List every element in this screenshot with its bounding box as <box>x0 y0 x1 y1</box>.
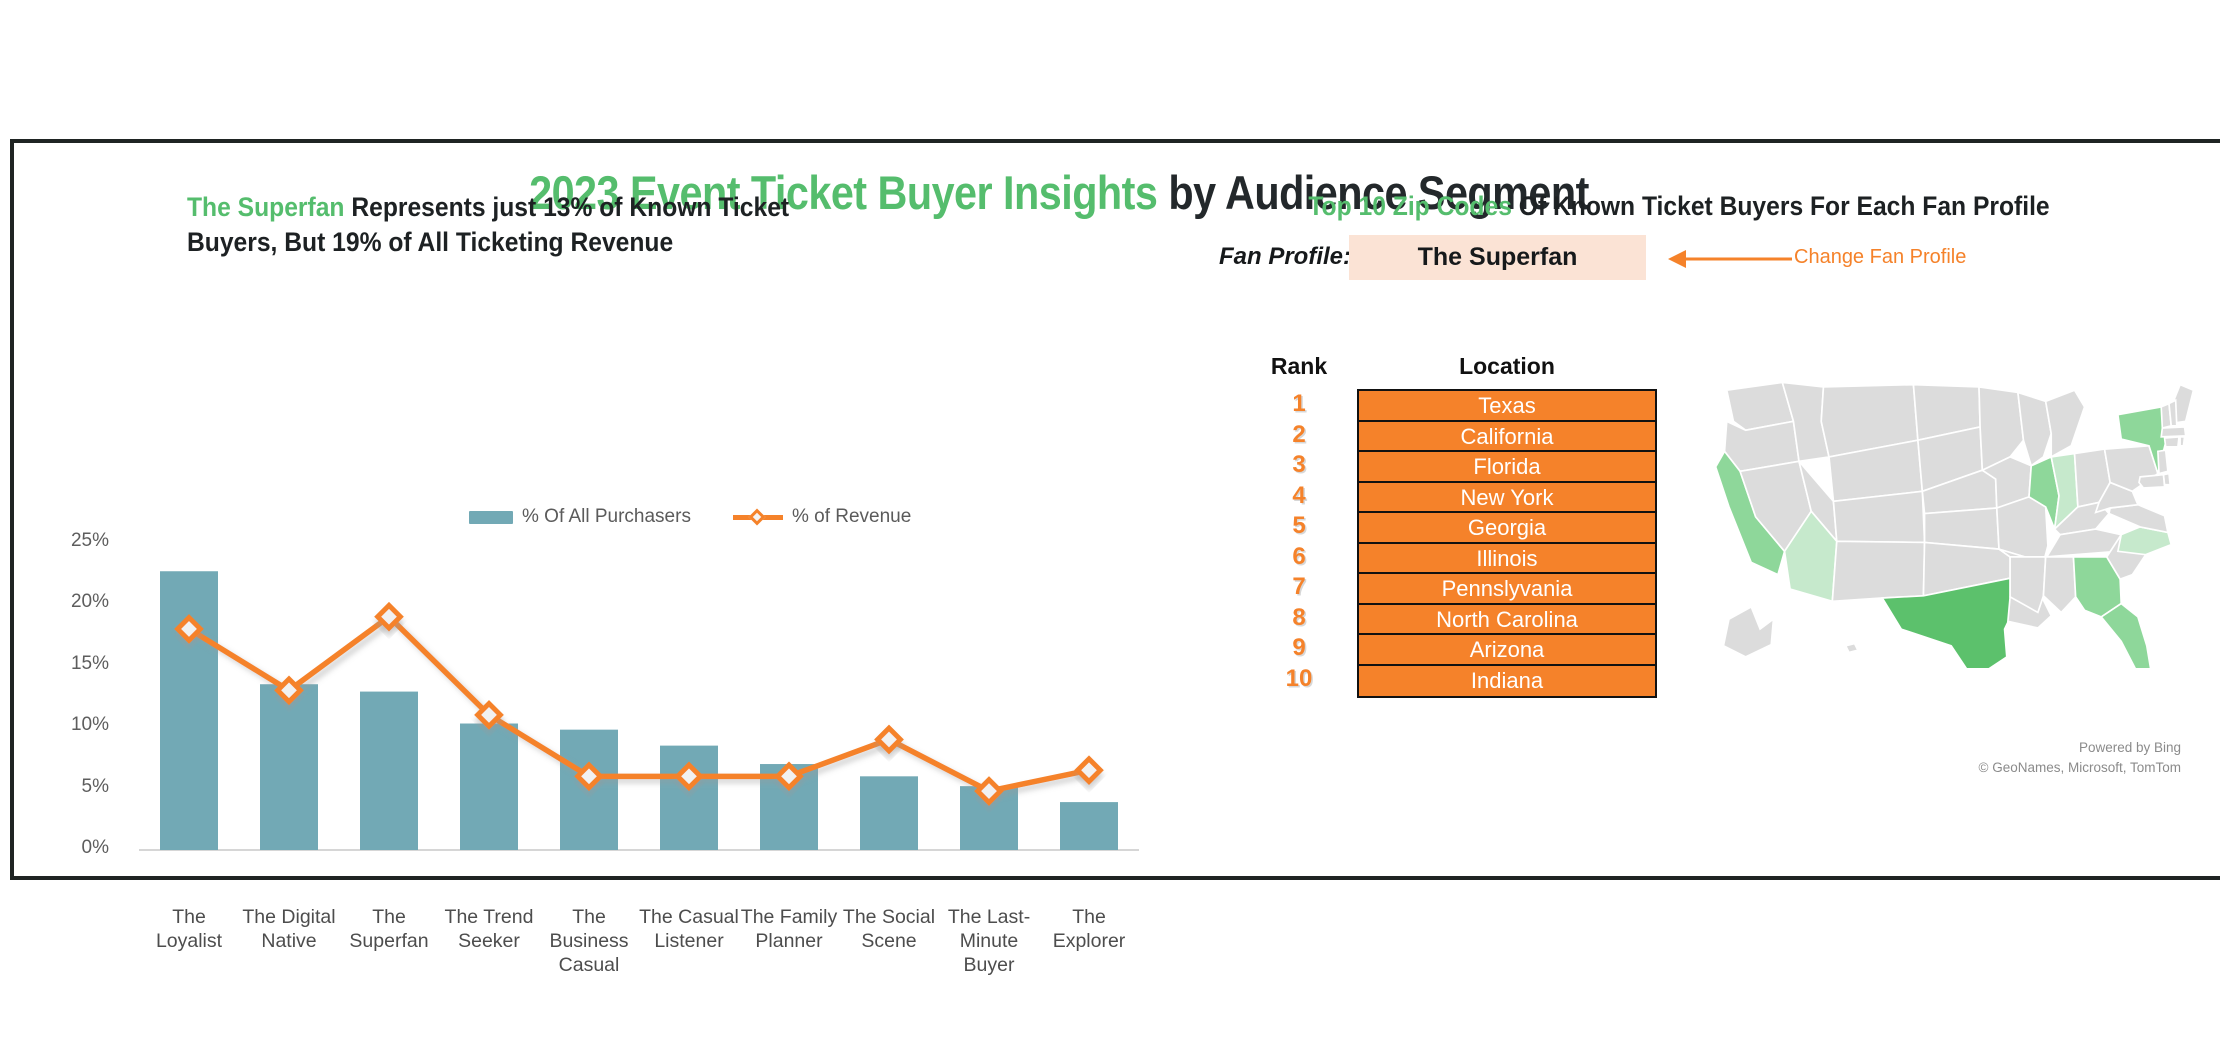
map-state-MI <box>2046 390 2085 457</box>
rank-cell: 9 <box>1254 633 1344 664</box>
location-cell[interactable]: Arizona <box>1359 635 1655 666</box>
chart-legend: % Of All Purchasers % of Revenue <box>469 506 911 528</box>
legend-line-swatch-icon <box>733 510 783 524</box>
x-axis-tick-label: The Digital Native <box>239 905 339 953</box>
y-axis-tick-label: 0% <box>14 837 109 859</box>
chart-x-axis: The LoyalistThe Digital NativeThe Superf… <box>139 905 1139 985</box>
combo-chart <box>139 533 1139 883</box>
y-axis-tick-label: 20% <box>14 591 109 613</box>
right-subtitle-rest: Of Known Ticket Buyers For Each Fan Prof… <box>1512 191 2050 221</box>
y-axis-tick-label: 5% <box>14 776 109 798</box>
x-axis-tick-label: The Casual Listener <box>639 905 739 953</box>
y-axis-tick-label: 25% <box>14 530 109 552</box>
dashboard-frame: 2023 Event Ticket Buyer Insights by Audi… <box>10 139 2220 880</box>
legend-item-purchasers[interactable]: % Of All Purchasers <box>469 506 691 528</box>
column-header-location: Location <box>1357 353 1657 380</box>
x-axis-tick-label: The Family Planner <box>739 905 839 953</box>
dashboard-root: 2023 Event Ticket Buyer Insights by Audi… <box>0 0 2220 1048</box>
map-attribution: Powered by Bing © GeoNames, Microsoft, T… <box>1659 738 2199 777</box>
rank-cell: 5 <box>1254 511 1344 542</box>
left-panel: The Superfan Represents just 13% of Know… <box>14 143 1134 880</box>
x-axis-tick-label: The Explorer <box>1039 905 1139 953</box>
location-column: TexasCaliforniaFloridaNew YorkGeorgiaIll… <box>1357 389 1657 698</box>
map-state-NH <box>2169 400 2177 426</box>
us-map-svg <box>1659 368 2199 668</box>
chart-plot-area[interactable] <box>139 533 1139 883</box>
left-arrow-icon <box>1664 244 1794 274</box>
map-state-HI <box>1846 644 1858 653</box>
right-subtitle: Top 10 Zip Codes Of Known Ticket Buyers … <box>1172 191 2186 222</box>
map-state-MN <box>1979 387 2023 470</box>
rank-cell: 6 <box>1254 542 1344 573</box>
x-axis-tick-label: The Superfan <box>339 905 439 953</box>
map-state-AK <box>1723 607 1773 657</box>
x-axis-tick-label: The Business Casual <box>539 905 639 978</box>
rank-cell: 4 <box>1254 481 1344 512</box>
map-state-MD <box>2139 475 2165 488</box>
fan-profile-value: The Superfan <box>1418 243 1578 272</box>
location-cell[interactable]: Illinois <box>1359 544 1655 575</box>
location-cell[interactable]: Florida <box>1359 452 1655 483</box>
location-cell[interactable]: Pennslyvania <box>1359 574 1655 605</box>
x-axis-tick-label: The Last-Minute Buyer <box>939 905 1039 978</box>
x-axis-tick-label: The Loyalist <box>139 905 239 953</box>
location-cell[interactable]: California <box>1359 422 1655 453</box>
map-state-CT <box>2165 437 2179 447</box>
change-fan-profile-note: Change Fan Profile <box>1794 246 1966 269</box>
location-cell[interactable]: North Carolina <box>1359 605 1655 636</box>
location-cell[interactable]: New York <box>1359 483 1655 514</box>
fan-profile-dropdown[interactable]: The Superfan <box>1349 235 1646 280</box>
us-choropleth-map[interactable] <box>1659 368 2199 668</box>
map-state-MA <box>2161 427 2185 437</box>
rank-cell: 3 <box>1254 450 1344 481</box>
rank-cell: 8 <box>1254 603 1344 634</box>
map-state-NM <box>1832 541 1924 601</box>
map-state-NJ <box>2158 450 2168 473</box>
y-axis-tick-label: 10% <box>14 714 109 736</box>
rank-cell: 2 <box>1254 420 1344 451</box>
x-axis-tick-label: The Trend Seeker <box>439 905 539 953</box>
fan-profile-label: Fan Profile: <box>1219 243 1351 271</box>
left-subtitle-highlight: The Superfan <box>187 192 344 222</box>
y-axis-tick-label: 15% <box>14 653 109 675</box>
right-panel: Top 10 Zip Codes Of Known Ticket Buyers … <box>1134 143 2220 880</box>
map-attribution-line2: © GeoNames, Microsoft, TomTom <box>1659 758 2181 778</box>
right-subtitle-highlight: Top 10 Zip Codes <box>1308 191 1512 221</box>
map-state-CO <box>1833 491 1924 542</box>
column-header-rank: Rank <box>1254 353 1344 380</box>
rank-cell: 7 <box>1254 572 1344 603</box>
top-locations-table: Rank Location 12345678910 TexasCaliforni… <box>1254 353 1674 385</box>
map-state-RI <box>2180 437 2184 446</box>
location-cell[interactable]: Indiana <box>1359 666 1655 697</box>
x-axis-tick-label: The Social Scene <box>839 905 939 953</box>
rank-column: 12345678910 <box>1254 389 1344 694</box>
location-cell[interactable]: Texas <box>1359 391 1655 422</box>
legend-bar-swatch-icon <box>469 511 513 524</box>
rank-cell: 1 <box>1254 389 1344 420</box>
map-attribution-line1: Powered by Bing <box>1659 738 2181 758</box>
legend-item-revenue[interactable]: % of Revenue <box>733 506 911 528</box>
map-state-AL <box>2043 557 2075 613</box>
legend-label-revenue: % of Revenue <box>792 506 911 528</box>
left-subtitle: The Superfan Represents just 13% of Know… <box>187 190 838 260</box>
location-cell[interactable]: Georgia <box>1359 513 1655 544</box>
map-state-FL <box>2101 604 2151 668</box>
legend-label-purchasers: % Of All Purchasers <box>522 506 691 528</box>
fan-profile-selector-row: Fan Profile: The Superfan Change Fan Pro… <box>1134 238 2220 278</box>
table-header-row: Rank Location <box>1254 353 1674 385</box>
rank-cell: 10 <box>1254 664 1344 695</box>
